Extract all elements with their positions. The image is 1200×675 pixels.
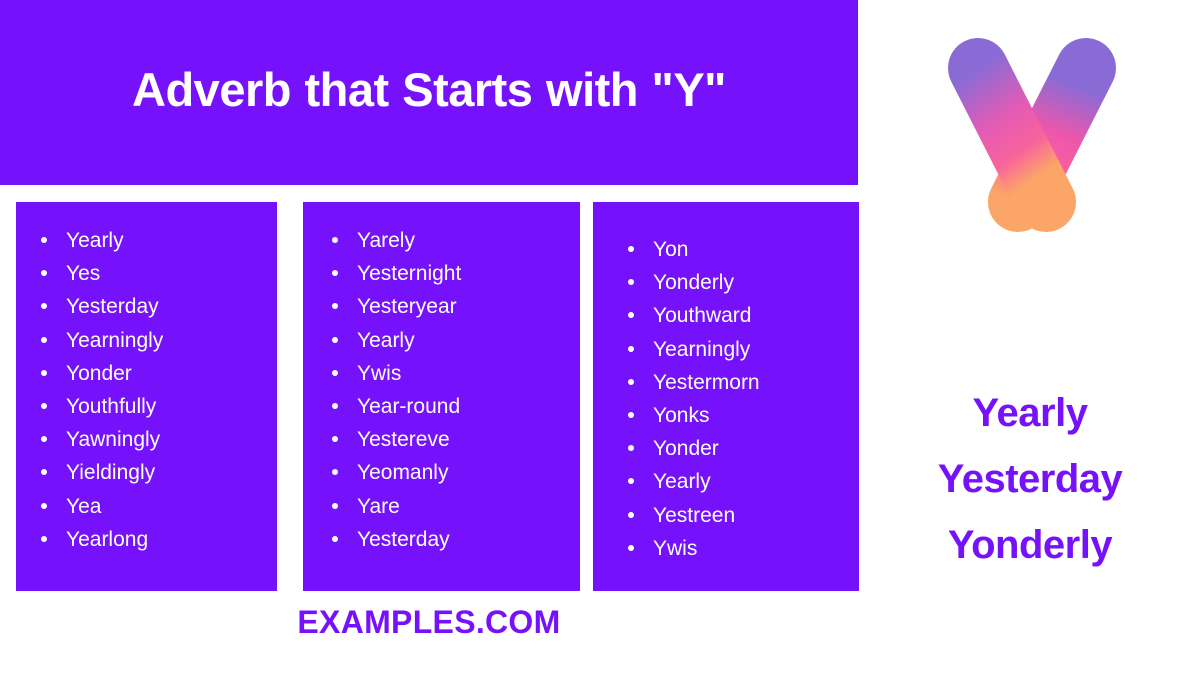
word-label: Yesternight <box>357 262 461 285</box>
word-label: Ywis <box>357 362 401 385</box>
word-columns-container: Yearly Yes Yesterday Yearningly Yonder Y… <box>16 202 859 591</box>
list-item: Yarely <box>329 224 570 257</box>
list-item: Yestreen <box>625 499 849 532</box>
highlight-word: Yearly <box>860 380 1200 446</box>
bullet-icon <box>628 412 634 418</box>
list-item: Yonder <box>38 357 267 390</box>
bullet-icon <box>332 303 338 309</box>
bullet-icon <box>332 337 338 343</box>
bullet-icon <box>41 503 47 509</box>
bullet-icon <box>41 303 47 309</box>
bullet-icon <box>41 237 47 243</box>
bullet-icon <box>41 337 47 343</box>
page-title: Adverb that Starts with "Y" <box>132 60 726 119</box>
list-item: Ywis <box>625 532 849 565</box>
word-card-column-3: Yon Yonderly Youthward Yearningly Yester… <box>593 202 859 591</box>
list-item: Youthward <box>625 299 849 332</box>
word-label: Yearlong <box>66 528 148 551</box>
right-panel: Yearly Yesterday Yonderly <box>860 0 1200 675</box>
word-label: Yarely <box>357 229 415 252</box>
list-item: Yieldingly <box>38 456 267 489</box>
word-list-column-1: Yearly Yes Yesterday Yearningly Yonder Y… <box>38 224 267 556</box>
word-label: Youthfully <box>66 395 156 418</box>
bullet-icon <box>628 445 634 451</box>
highlight-words-list: Yearly Yesterday Yonderly <box>860 380 1200 578</box>
word-label: Yearly <box>357 329 415 352</box>
word-label: Year-round <box>357 395 460 418</box>
word-list-column-3: Yon Yonderly Youthward Yearningly Yester… <box>625 233 849 565</box>
list-item: Yare <box>329 490 570 523</box>
bullet-icon <box>332 370 338 376</box>
word-label: Yesterday <box>66 295 159 318</box>
bullet-icon <box>41 270 47 276</box>
list-item: Yon <box>625 233 849 266</box>
list-item: Yearningly <box>625 333 849 366</box>
bullet-icon <box>332 403 338 409</box>
bullet-icon <box>628 279 634 285</box>
bullet-icon <box>332 536 338 542</box>
word-label: Yeomanly <box>357 461 448 484</box>
list-item: Yearly <box>329 324 570 357</box>
list-item: Yearly <box>625 465 849 498</box>
word-label: Yon <box>653 238 688 261</box>
word-card-column-2: Yarely Yesternight Yesteryear Yearly Ywi… <box>303 202 580 591</box>
word-label: Yearly <box>653 470 711 493</box>
list-item: Yawningly <box>38 423 267 456</box>
list-item: Yonder <box>625 432 849 465</box>
bullet-icon <box>41 370 47 376</box>
list-item: Yesterday <box>329 523 570 556</box>
word-label: Yes <box>66 262 100 285</box>
list-item: Yes <box>38 257 267 290</box>
list-item: Yearlong <box>38 523 267 556</box>
bullet-icon <box>628 246 634 252</box>
word-label: Yesteryear <box>357 295 457 318</box>
word-list-column-2: Yarely Yesternight Yesteryear Yearly Ywi… <box>329 224 570 556</box>
word-label: Yearningly <box>653 338 750 361</box>
word-label: Yonder <box>66 362 132 385</box>
word-label: Yestereve <box>357 428 450 451</box>
bullet-icon <box>628 478 634 484</box>
bullet-icon <box>332 270 338 276</box>
word-label: Yare <box>357 495 400 518</box>
bullet-icon <box>628 346 634 352</box>
list-item: Yearningly <box>38 324 267 357</box>
bullet-icon <box>332 469 338 475</box>
bullet-icon <box>41 536 47 542</box>
footer-brand: EXAMPLES.COM <box>0 604 858 641</box>
bullet-icon <box>628 545 634 551</box>
header-banner: Adverb that Starts with "Y" <box>0 0 858 185</box>
word-label: Yestermorn <box>653 371 760 394</box>
word-label: Yonder <box>653 437 719 460</box>
bullet-icon <box>628 512 634 518</box>
word-label: Yearly <box>66 229 124 252</box>
list-item: Year-round <box>329 390 570 423</box>
bullet-icon <box>332 503 338 509</box>
list-item: Yestermorn <box>625 366 849 399</box>
word-label: Yestreen <box>653 504 735 527</box>
list-item: Yesterday <box>38 290 267 323</box>
word-label: Youthward <box>653 304 751 327</box>
highlight-word: Yonderly <box>860 512 1200 578</box>
word-label: Yonderly <box>653 271 734 294</box>
word-label: Yesterday <box>357 528 450 551</box>
bullet-icon <box>41 436 47 442</box>
list-item: Ywis <box>329 357 570 390</box>
list-item: Yearly <box>38 224 267 257</box>
bullet-icon <box>41 403 47 409</box>
bullet-icon <box>41 469 47 475</box>
list-item: Yestereve <box>329 423 570 456</box>
bullet-icon <box>332 436 338 442</box>
word-label: Yieldingly <box>66 461 155 484</box>
word-card-column-1: Yearly Yes Yesterday Yearningly Yonder Y… <box>16 202 277 591</box>
word-label: Ywis <box>653 537 697 560</box>
list-item: Yonks <box>625 399 849 432</box>
list-item: Yonderly <box>625 266 849 299</box>
word-label: Yearningly <box>66 329 163 352</box>
bullet-icon <box>332 237 338 243</box>
list-item: Yesternight <box>329 257 570 290</box>
bullet-icon <box>628 379 634 385</box>
list-item: Yea <box>38 490 267 523</box>
word-label: Yea <box>66 495 101 518</box>
highlight-word: Yesterday <box>860 446 1200 512</box>
list-item: Youthfully <box>38 390 267 423</box>
list-item: Yeomanly <box>329 456 570 489</box>
letter-y-logo-icon <box>932 24 1132 344</box>
bullet-icon <box>628 312 634 318</box>
list-item: Yesteryear <box>329 290 570 323</box>
word-label: Yonks <box>653 404 709 427</box>
word-label: Yawningly <box>66 428 160 451</box>
